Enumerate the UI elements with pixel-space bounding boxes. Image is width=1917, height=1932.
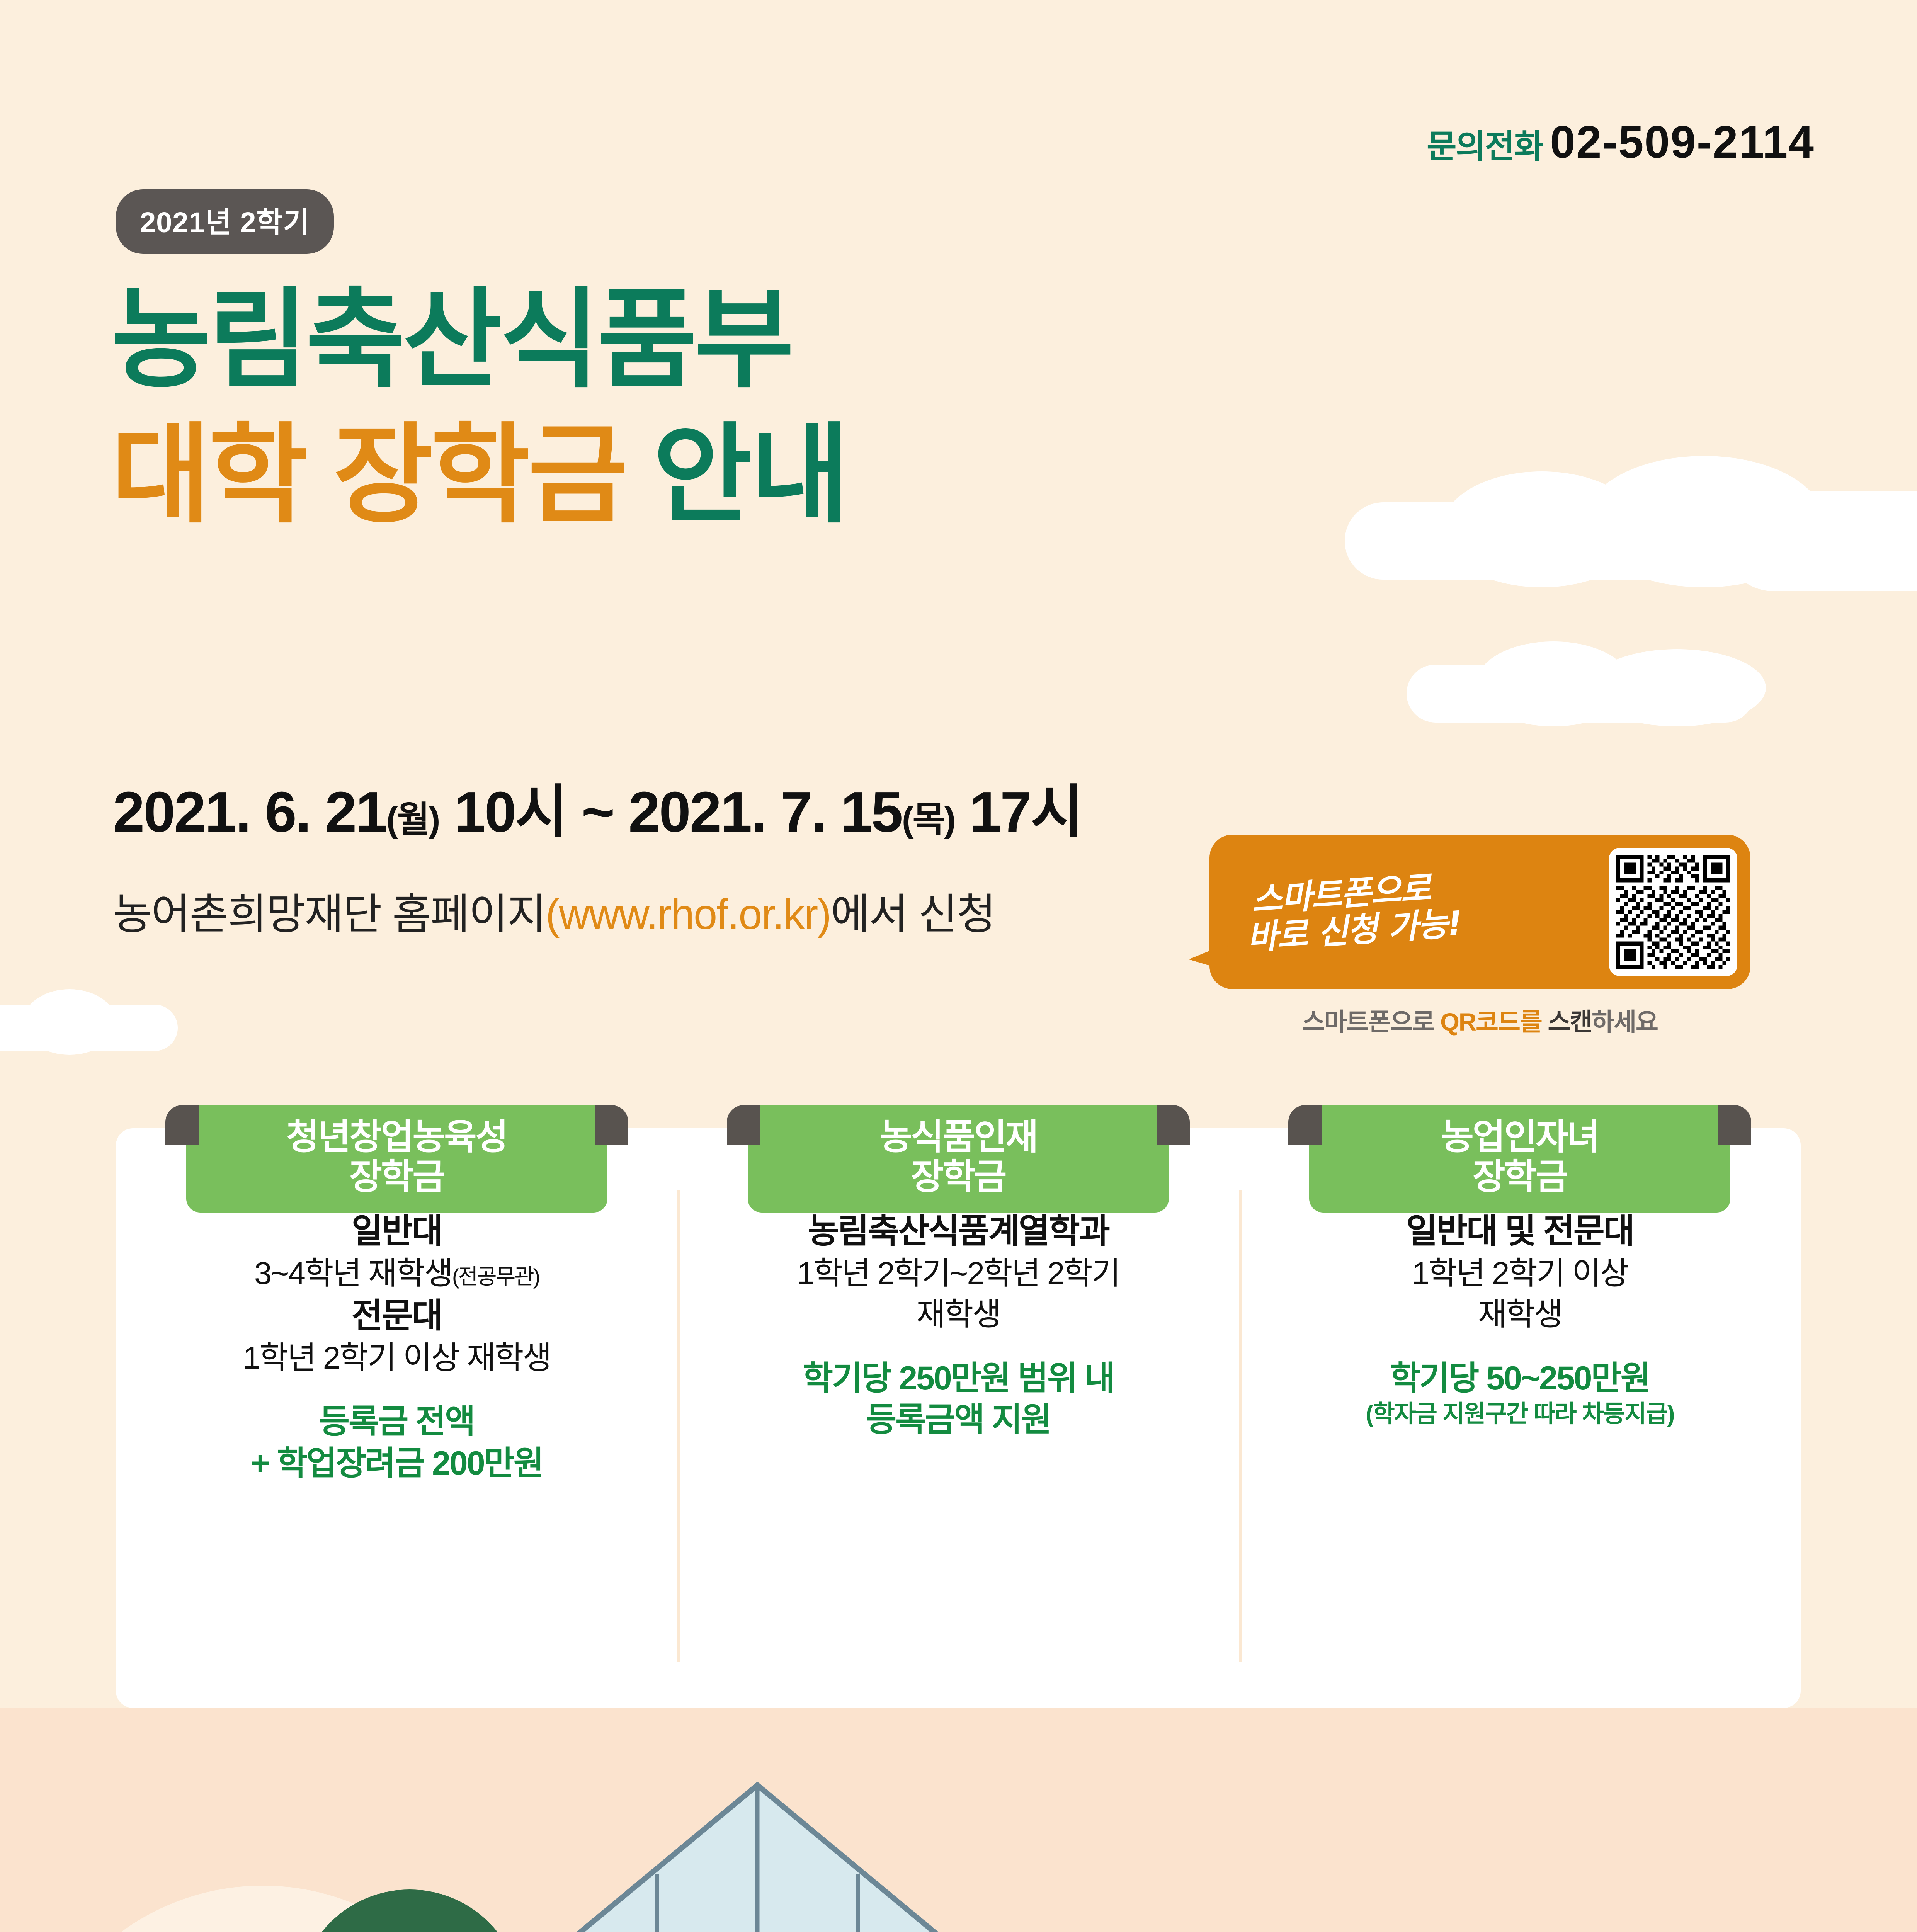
card-1-amount-line2: + 학업장려금 200만원 <box>131 1443 662 1485</box>
qr-bubble-text: 스마트폰으로 바로 신청 가능! <box>1250 867 1463 956</box>
card-1-banner-line2: 장학금 <box>186 1157 607 1197</box>
qr-caption-mid: 스캔 <box>1542 1008 1592 1036</box>
qr-code-image[interactable] <box>1609 848 1737 976</box>
scholarship-card-3[interactable]: 농업인자녀 장학금 일반대 및 전문대 1학년 2학기 이상 재학생 학기당 5… <box>1239 1128 1801 1708</box>
period-start-date: 2021. 6. 21 <box>113 780 386 844</box>
apply-prefix: 농어촌희망재단 홈페이지 <box>113 891 546 938</box>
qr-callout: 스마트폰으로 바로 신청 가능! <box>1209 835 1797 1038</box>
period-start-time: 10시 <box>454 780 567 844</box>
banner-tab-right-icon <box>1157 1105 1190 1145</box>
apply-suffix: 에서 신청 <box>831 891 995 938</box>
card-1-amount: 등록금 전액 + 학업장려금 200만원 <box>131 1401 662 1484</box>
card-1-sub1: 3~4학년 재학생(전공무관) <box>131 1253 662 1294</box>
card-3-banner-line2: 장학금 <box>1309 1157 1730 1197</box>
card-3-banner: 농업인자녀 장학금 <box>1309 1105 1730 1213</box>
card-1-sub2: 1학년 2학기 이상 재학생 <box>131 1338 662 1379</box>
period-end-time: 17시 <box>970 780 1082 844</box>
card-3-head1: 일반대 및 전문대 <box>1255 1209 1785 1253</box>
qr-caption: 스마트폰으로 QR코드를 스캔하세요 <box>1209 1002 1750 1038</box>
qr-caption-pre: 스마트폰으로 <box>1302 1008 1440 1036</box>
contact-phone-number: 02-509-2114 <box>1550 116 1815 168</box>
card-2-banner-line1: 농식품인재 <box>748 1117 1169 1157</box>
card-1-amount-line1: 등록금 전액 <box>131 1401 662 1443</box>
card-3-sub2: 재학생 <box>1255 1294 1785 1335</box>
card-2-amount-line2: 등록금액 지원 <box>693 1399 1223 1441</box>
page-title-green: 안내 <box>653 415 847 536</box>
card-3-amount-note: (학자금 지원구간 따라 차등지급) <box>1255 1399 1785 1429</box>
page-title-line2: 대학 장학금 안내 <box>111 421 847 529</box>
card-1-banner: 청년창업농육성 장학금 <box>186 1105 607 1213</box>
application-period: 2021. 6. 21(월) 10시 ~ 2021. 7. 15(목) 17시 <box>113 765 1082 848</box>
period-separator: ~ <box>582 780 614 844</box>
card-1-sub1-text: 3~4학년 재학생 <box>254 1256 452 1291</box>
banner-tab-left-icon <box>727 1105 760 1145</box>
card-2-head1: 농림축산식품계열학과 <box>693 1209 1223 1253</box>
application-website-line: 농어촌희망재단 홈페이지(www.rhof.or.kr)에서 신청 <box>113 879 995 941</box>
card-2-banner: 농식품인재 장학금 <box>748 1105 1169 1213</box>
card-3-amount: 학기당 50~250만원 (학자금 지원구간 따라 차등지급) <box>1255 1358 1785 1429</box>
banner-tab-right-icon <box>1718 1105 1751 1145</box>
contact-phone: 문의전화 02-509-2114 <box>1427 116 1815 168</box>
card-3-banner-line1: 농업인자녀 <box>1309 1117 1730 1157</box>
poster-root: 문의전화 02-509-2114 2021년 2학기 농림축산식품부 대학 장학… <box>0 0 1917 1932</box>
qr-caption-highlight: QR코드를 <box>1440 1008 1542 1036</box>
banner-tab-right-icon <box>595 1105 628 1145</box>
farm-illustration <box>0 1708 1917 1932</box>
page-title-line1: 농림축산식품부 <box>111 286 792 394</box>
card-1-head1: 일반대 <box>131 1209 662 1253</box>
apply-url[interactable]: (www.rhof.or.kr) <box>546 891 831 938</box>
card-2-banner-line2: 장학금 <box>748 1157 1169 1197</box>
scholarship-card-2[interactable]: 농식품인재 장학금 농림축산식품계열학과 1학년 2학기~2학년 2학기 재학생… <box>677 1128 1239 1708</box>
card-3-amount-line1: 학기당 50~250만원 <box>1255 1358 1785 1400</box>
scholarship-card-1[interactable]: 청년창업농육성 장학금 일반대 3~4학년 재학생(전공무관) 전문대 1학년 … <box>116 1128 677 1708</box>
card-1-head2: 전문대 <box>131 1294 662 1338</box>
card-1-sub1-note: (전공무관) <box>452 1264 539 1289</box>
card-2-sub2: 재학생 <box>693 1294 1223 1335</box>
period-end-day: (목) <box>902 800 955 839</box>
card-2-amount: 학기당 250만원 범위 내 등록금액 지원 <box>693 1358 1223 1441</box>
period-end-date: 2021. 7. 15 <box>628 780 902 844</box>
card-2-sub1: 1학년 2학기~2학년 2학기 <box>693 1253 1223 1294</box>
period-start-day: (월) <box>386 800 439 839</box>
card-3-sub1: 1학년 2학기 이상 <box>1255 1253 1785 1294</box>
qr-caption-post: 하세요 <box>1592 1008 1658 1036</box>
banner-tab-left-icon <box>1288 1105 1322 1145</box>
card-1-banner-line1: 청년창업농육성 <box>186 1117 607 1157</box>
qr-speech-bubble: 스마트폰으로 바로 신청 가능! <box>1209 835 1750 989</box>
banner-tab-left-icon <box>165 1105 199 1145</box>
contact-phone-label: 문의전화 <box>1427 121 1543 167</box>
page-title-orange: 대학 장학금 <box>111 415 625 536</box>
semester-badge: 2021년 2학기 <box>116 189 334 254</box>
scholarship-cards-panel: 청년창업농육성 장학금 일반대 3~4학년 재학생(전공무관) 전문대 1학년 … <box>116 1128 1801 1708</box>
card-2-amount-line1: 학기당 250만원 범위 내 <box>693 1358 1223 1400</box>
